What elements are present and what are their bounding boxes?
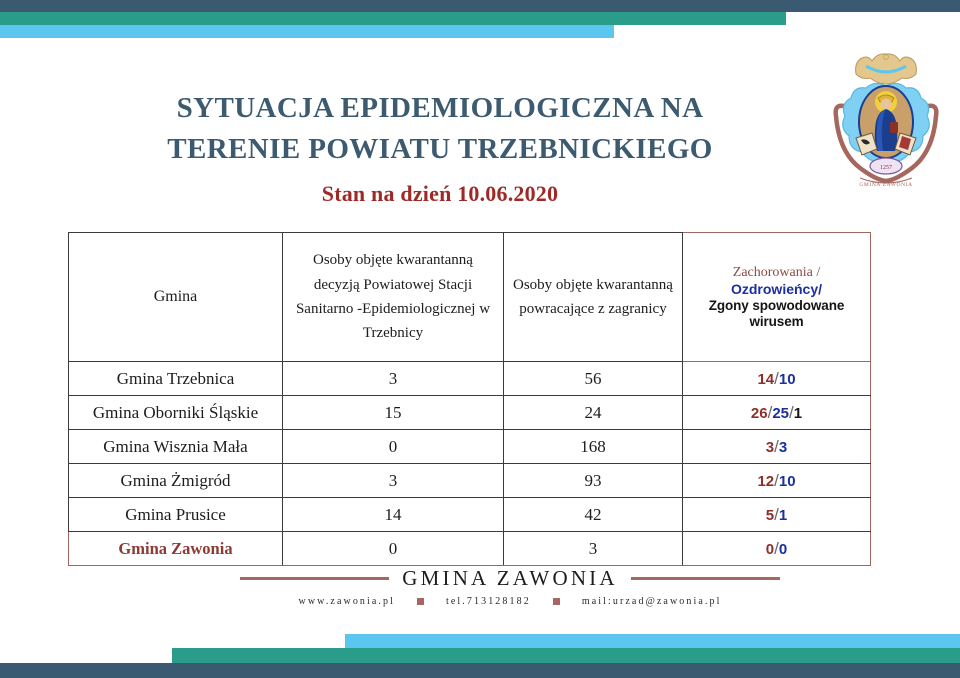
gmina-label: Gmina Wisznia Mała [103,437,247,456]
table-row: Gmina Wisznia Mała 0 168 3/3 [69,430,871,464]
header-label-kwarantanna-zagranica: Osoby objęte kwarantanną powracające z z… [504,273,682,322]
header-label-zachorowania: Zachorowania / [686,265,867,282]
gmina-label: Gmina Prusice [125,505,226,524]
value-ozdrowiency: 10 [779,473,796,490]
top-bar-teal [0,12,786,25]
page-title-line2: TERENIE POWIATU TRZEBNICKIEGO [60,129,820,170]
brand-name: GMINA ZAWONIA [402,566,617,591]
table-row-highlighted: Gmina Zawonia 0 3 0/0 [69,532,871,566]
cell-zachorowania: 0/0 [683,532,871,566]
cell-kwarantanna-zagranica: 3 [504,532,683,566]
value-zagranica: 168 [580,437,606,456]
page-subtitle-date: Stan na dzień 10.06.2020 [60,181,820,207]
footer-contact: www.zawonia.pl tel.713128182 mail:urzad@… [200,596,820,607]
table-row: Gmina Trzebnica 3 56 14/10 [69,362,871,396]
table-header-row: Gmina Osoby objęte kwarantanną decyzją P… [69,233,871,362]
footer-phone[interactable]: tel.713128182 [446,596,531,607]
slide-root: 1257 GMINA ZAWONIA SYTUACJA EPIDEMIOLOGI… [0,0,960,678]
header-label-gmina: Gmina [69,288,282,306]
value-zagranica: 24 [585,403,602,422]
table-row: Gmina Żmigród 3 93 12/10 [69,464,871,498]
footer-brand: GMINA ZAWONIA [240,566,780,591]
value-zach-group: 14/10 [757,371,795,388]
value-psse: 14 [385,505,402,524]
cell-kwarantanna-psse: 3 [283,464,504,498]
value-zach-group: 26/25/1 [751,405,802,422]
bottom-bar-navy [0,663,960,678]
cell-kwarantanna-psse: 3 [283,362,504,396]
header-cell-gmina: Gmina [69,233,283,362]
value-ozdrowiency: 0 [779,541,787,558]
brand-rule-right [631,577,780,580]
cell-gmina: Gmina Żmigród [69,464,283,498]
value-zach-group: 0/0 [766,541,787,558]
value-zachorowania: 14 [757,371,774,388]
cell-gmina: Gmina Prusice [69,498,283,532]
value-zagranica: 56 [585,369,602,388]
cell-kwarantanna-zagranica: 24 [504,396,683,430]
title-block: SYTUACJA EPIDEMIOLOGICZNA NA TERENIE POW… [60,88,820,207]
value-zagranica: 93 [585,471,602,490]
value-zgony: 1 [794,405,802,422]
footer-mail[interactable]: mail:urzad@zawonia.pl [582,596,722,607]
header-label-kwarantanna-psse: Osoby objęte kwarantanną decyzją Powiato… [283,248,503,345]
header-label-zgony: Zgony spowodowane wirusem [686,298,867,330]
cell-kwarantanna-zagranica: 42 [504,498,683,532]
bottom-bar-lightblue [345,634,960,648]
value-psse: 3 [389,369,398,388]
cell-gmina: Gmina Zawonia [69,532,283,566]
svg-text:1257: 1257 [880,165,892,171]
bullet-square-icon-1 [417,598,424,605]
table-row: Gmina Oborniki Śląskie 15 24 26/25/1 [69,396,871,430]
cell-kwarantanna-psse: 14 [283,498,504,532]
value-psse: 0 [389,539,398,558]
value-zagranica: 3 [589,539,598,558]
cell-kwarantanna-zagranica: 93 [504,464,683,498]
value-ozdrowiency: 3 [779,439,787,456]
value-zachorowania: 0 [766,541,774,558]
page-title-line1: SYTUACJA EPIDEMIOLOGICZNA NA [60,88,820,129]
value-psse: 15 [385,403,402,422]
value-zagranica: 42 [585,505,602,524]
value-zach-group: 3/3 [766,439,787,456]
coat-of-arms-icon: 1257 GMINA ZAWONIA [824,44,948,194]
table-row: Gmina Prusice 14 42 5/1 [69,498,871,532]
top-bar-navy [0,0,960,12]
cell-zachorowania: 14/10 [683,362,871,396]
value-zachorowania: 12 [757,473,774,490]
cell-kwarantanna-zagranica: 168 [504,430,683,464]
cell-kwarantanna-psse: 15 [283,396,504,430]
cell-zachorowania: 26/25/1 [683,396,871,430]
value-ozdrowiency: 1 [779,507,787,524]
cell-zachorowania: 5/1 [683,498,871,532]
gmina-label: Gmina Zawonia [118,539,232,558]
bullet-square-icon-2 [553,598,560,605]
top-bar-lightblue [0,25,614,38]
value-psse: 3 [389,471,398,490]
value-ozdrowiency: 10 [779,371,796,388]
value-zach-group: 12/10 [757,473,795,490]
cell-kwarantanna-zagranica: 56 [504,362,683,396]
cell-kwarantanna-psse: 0 [283,532,504,566]
bottom-bar-teal [172,648,960,663]
cell-kwarantanna-psse: 0 [283,430,504,464]
cell-zachorowania: 12/10 [683,464,871,498]
cell-gmina: Gmina Wisznia Mała [69,430,283,464]
value-psse: 0 [389,437,398,456]
brand-rule-left [240,577,389,580]
header-label-ozdrowiency: Ozdrowieńcy/ [686,281,867,298]
value-zach-group: 5/1 [766,507,787,524]
cell-gmina: Gmina Oborniki Śląskie [69,396,283,430]
value-zachorowania: 5 [766,507,774,524]
gmina-label: Gmina Żmigród [120,471,230,490]
epidemiological-table: Gmina Osoby objęte kwarantanną decyzją P… [68,232,871,566]
footer-website[interactable]: www.zawonia.pl [299,596,396,607]
value-ozdrowiency: 25 [772,405,789,422]
svg-text:GMINA ZAWONIA: GMINA ZAWONIA [859,182,912,188]
header-cell-zachorowania: Zachorowania / Ozdrowieńcy/ Zgony spowod… [683,233,871,362]
gmina-label: Gmina Oborniki Śląskie [93,403,258,422]
header-cell-kwarantanna-zagranica: Osoby objęte kwarantanną powracające z z… [504,233,683,362]
cell-gmina: Gmina Trzebnica [69,362,283,396]
gmina-label: Gmina Trzebnica [117,369,235,388]
value-zachorowania: 26 [751,405,768,422]
cell-zachorowania: 3/3 [683,430,871,464]
value-zachorowania: 3 [766,439,774,456]
header-cell-kwarantanna-psse: Osoby objęte kwarantanną decyzją Powiato… [283,233,504,362]
